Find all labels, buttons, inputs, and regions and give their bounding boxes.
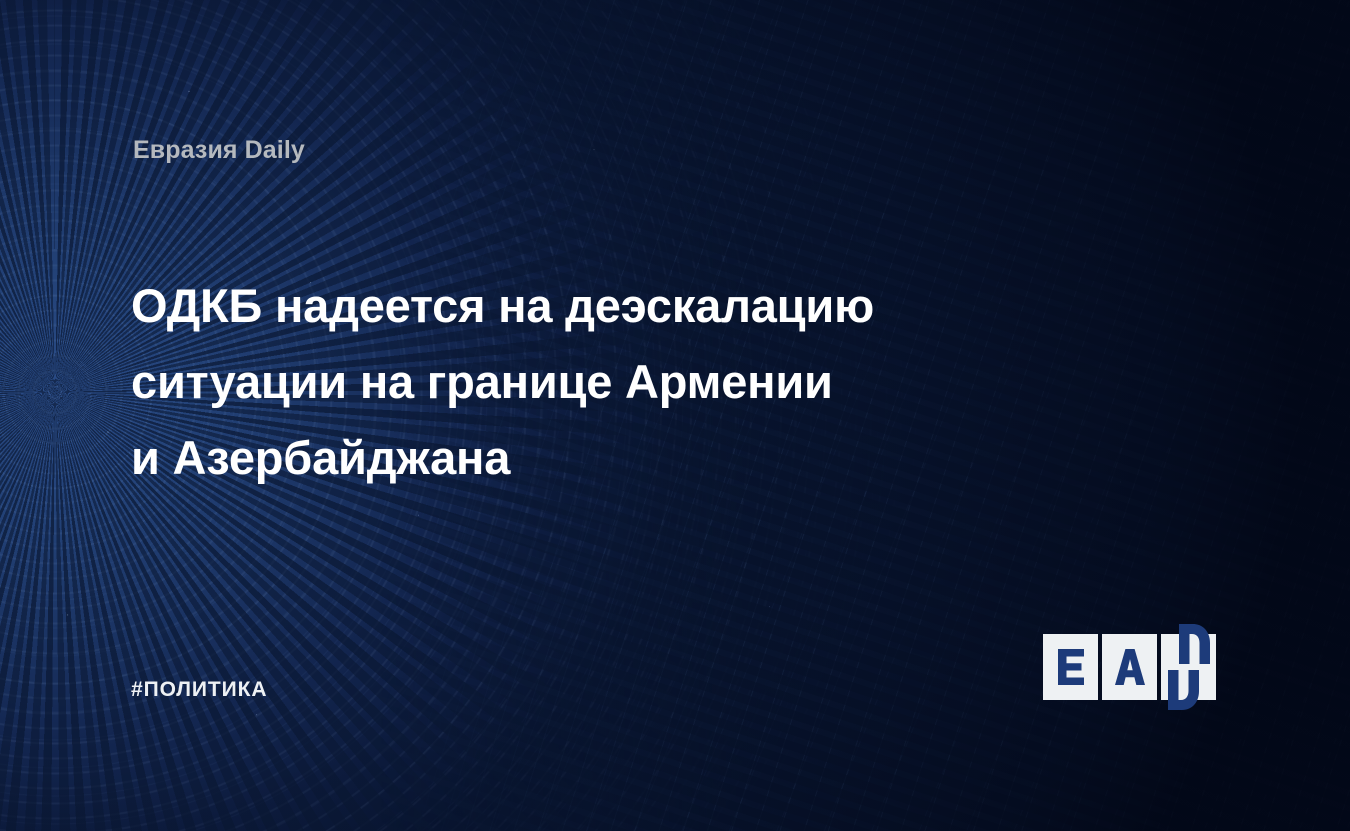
split-d-mark-icon bbox=[1167, 624, 1211, 710]
page-title: ОДКБ надеется на деэскалацию ситуации на… bbox=[131, 268, 1031, 496]
logo-tile-e bbox=[1043, 634, 1098, 700]
letter-e-icon bbox=[1056, 647, 1086, 687]
headline-line: ОДКБ надеется на деэскалацию bbox=[131, 268, 1031, 344]
letter-a-icon bbox=[1114, 647, 1146, 687]
eadaily-logo[interactable] bbox=[1043, 634, 1216, 700]
brand-name: Евразия Daily bbox=[133, 138, 305, 163]
logo-tile-a bbox=[1102, 634, 1157, 700]
headline-line: и Азербайджана bbox=[131, 420, 1031, 496]
headline-line: ситуации на границе Армении bbox=[131, 344, 1031, 420]
category-hashtag[interactable]: #ПОЛИТИКА bbox=[131, 679, 267, 700]
logo-tile-d bbox=[1161, 634, 1216, 700]
news-card: Евразия Daily ОДКБ надеется на деэскалац… bbox=[0, 0, 1350, 831]
